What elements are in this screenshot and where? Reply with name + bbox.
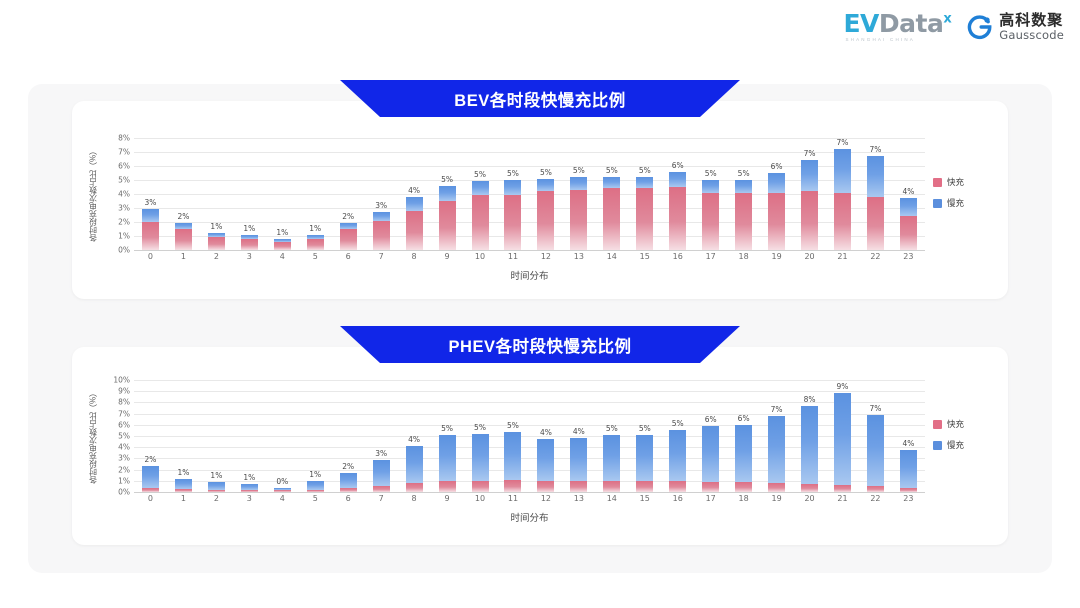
- chart-title-banner-bev: BEV各时段快慢充比例: [340, 80, 740, 117]
- bar-segment-slow: [504, 432, 521, 480]
- bar-column[interactable]: 1%: [233, 380, 266, 492]
- legend-label-fast: 快充: [947, 418, 964, 430]
- bar-data-label: 7%: [837, 138, 849, 147]
- bar-data-label: 4%: [408, 186, 420, 195]
- bar-segment-slow: [472, 181, 489, 195]
- bar-segment-slow: [768, 416, 785, 483]
- legend-swatch-fast-icon: [933, 420, 942, 429]
- bar-segment-slow: [208, 482, 225, 490]
- x-axis-tick: 13: [562, 494, 595, 503]
- stacked-bar[interactable]: 5%: [603, 435, 620, 492]
- bar-data-label: 5%: [672, 419, 684, 428]
- bar-column[interactable]: 5%: [661, 380, 694, 492]
- bar-segment-fast: [834, 193, 851, 250]
- bar-column[interactable]: 6%: [760, 138, 793, 250]
- bar-column[interactable]: 6%: [694, 380, 727, 492]
- gridline: [134, 492, 925, 493]
- stacked-bar[interactable]: 2%: [142, 466, 159, 492]
- stacked-bar[interactable]: 0%: [274, 488, 291, 492]
- bar-segment-fast: [537, 191, 554, 250]
- bar-segment-fast: [834, 485, 851, 492]
- x-axis-tick: 11: [496, 252, 529, 261]
- y-axis-tick: 6%: [118, 162, 130, 171]
- y-axis-tick: 2%: [118, 218, 130, 227]
- bar-column[interactable]: 2%: [134, 380, 167, 492]
- bar-segment-slow: [735, 180, 752, 193]
- bar-segment-slow: [834, 393, 851, 485]
- y-axis-tick: 9%: [118, 387, 130, 396]
- y-axis-tick: 0%: [118, 488, 130, 497]
- bar-column[interactable]: 5%: [595, 380, 628, 492]
- bar-segment-fast: [241, 239, 258, 250]
- bar-segment-slow: [900, 450, 917, 488]
- bar-data-label: 5%: [507, 421, 519, 430]
- logo-group: EVDatax SHANGHAI CHINA 高科数聚 Gausscode: [843, 11, 1064, 43]
- stacked-bar[interactable]: 3%: [142, 209, 159, 250]
- x-axis-tick: 5: [299, 494, 332, 503]
- legend-item-slow-phev[interactable]: 慢充: [933, 439, 993, 451]
- evdata-data-text: Data: [879, 9, 943, 38]
- bar-segment-slow: [636, 177, 653, 188]
- gausscode-cn-name: 高科数聚: [999, 13, 1064, 29]
- bar-segment-slow: [406, 446, 423, 483]
- bar-group-phev: 2%1%1%1%0%1%2%3%4%5%5%5%4%4%5%5%5%6%6%7%…: [134, 380, 925, 492]
- gausscode-en-name: Gausscode: [999, 29, 1064, 41]
- x-axis-tick: 12: [529, 252, 562, 261]
- stacked-bar[interactable]: 1%: [208, 482, 225, 492]
- bar-column[interactable]: 3%: [134, 138, 167, 250]
- bar-segment-fast: [636, 188, 653, 250]
- stacked-bar[interactable]: 5%: [472, 181, 489, 250]
- y-axis-label-phev: 各时段充电次数占比（%）: [86, 380, 100, 492]
- bar-column[interactable]: 5%: [464, 138, 497, 250]
- y-axis-tick: 8%: [118, 134, 130, 143]
- bar-column[interactable]: 1%: [233, 138, 266, 250]
- bar-segment-slow: [340, 473, 357, 488]
- x-axis-tick: 2: [200, 494, 233, 503]
- bar-data-label: 5%: [540, 168, 552, 177]
- bar-column[interactable]: 1%: [299, 138, 332, 250]
- stacked-bar[interactable]: 5%: [570, 177, 587, 250]
- x-axis-tick: 18: [727, 494, 760, 503]
- stacked-bar[interactable]: 3%: [373, 212, 390, 250]
- bar-segment-slow: [439, 435, 456, 481]
- bar-segment-slow: [142, 466, 159, 488]
- bar-segment-fast: [669, 481, 686, 492]
- stacked-bar[interactable]: 5%: [439, 186, 456, 250]
- bar-data-label: 4%: [902, 187, 914, 196]
- bar-segment-fast: [142, 488, 159, 492]
- y-axis-label-bev: 各时段充电次数占比（%）: [86, 138, 100, 250]
- evdata-subtitle: SHANGHAI CHINA: [845, 38, 915, 43]
- bar-segment-slow: [669, 172, 686, 187]
- bar-column[interactable]: 7%: [793, 138, 826, 250]
- stacked-bar[interactable]: 3%: [373, 460, 390, 492]
- bar-column[interactable]: 9%: [826, 380, 859, 492]
- y-axis-tick: 0%: [118, 246, 130, 255]
- bar-column[interactable]: 2%: [167, 138, 200, 250]
- bar-segment-slow: [702, 426, 719, 482]
- legend-bev: 快充 慢充: [933, 176, 993, 209]
- bar-column[interactable]: 5%: [628, 138, 661, 250]
- bar-column[interactable]: 4%: [398, 138, 431, 250]
- stacked-bar[interactable]: 5%: [669, 430, 686, 492]
- bar-column[interactable]: 7%: [760, 380, 793, 492]
- x-axis-tick: 8: [398, 494, 431, 503]
- x-axis-tick: 15: [628, 494, 661, 503]
- bar-segment-fast: [208, 237, 225, 250]
- x-axis-tick: 7: [365, 252, 398, 261]
- bar-segment-fast: [867, 197, 884, 250]
- bar-column[interactable]: 5%: [496, 380, 529, 492]
- bar-data-label: 5%: [441, 424, 453, 433]
- bar-segment-slow: [175, 479, 192, 490]
- x-axis-tick: 22: [859, 252, 892, 261]
- x-axis-ticks-phev: 01234567891011121314151617181920212223: [134, 494, 925, 503]
- bar-segment-fast: [570, 481, 587, 492]
- stacked-bar[interactable]: 5%: [504, 432, 521, 492]
- bar-segment-fast: [439, 201, 456, 250]
- bar-segment-slow: [900, 198, 917, 216]
- stacked-bar[interactable]: 5%: [702, 180, 719, 250]
- x-axis-tick: 22: [859, 494, 892, 503]
- evdata-ev-text: EV: [843, 9, 878, 38]
- bar-segment-fast: [274, 490, 291, 492]
- x-axis-tick: 1: [167, 252, 200, 261]
- x-axis-tick: 0: [134, 494, 167, 503]
- bar-column[interactable]: 5%: [529, 138, 562, 250]
- bar-segment-fast: [570, 190, 587, 250]
- bar-data-label: 3%: [145, 198, 157, 207]
- y-axis-tick: 4%: [118, 190, 130, 199]
- bar-segment-fast: [340, 488, 357, 492]
- bar-data-label: 1%: [276, 228, 288, 237]
- bar-segment-slow: [867, 415, 884, 487]
- bar-segment-slow: [801, 160, 818, 191]
- page-header: EVDatax SHANGHAI CHINA 高科数聚 Gausscode: [0, 0, 1080, 58]
- bar-column[interactable]: 5%: [562, 138, 595, 250]
- stacked-bar[interactable]: 1%: [307, 235, 324, 250]
- chart-bev: 各时段充电次数占比（%） 0%1%2%3%4%5%6%7%8% 3%2%1%1%…: [88, 138, 993, 293]
- legend-item-slow-bev[interactable]: 慢充: [933, 197, 993, 209]
- stacked-bar[interactable]: 7%: [867, 156, 884, 250]
- stacked-bar[interactable]: 1%: [208, 233, 225, 250]
- stacked-bar[interactable]: 2%: [340, 473, 357, 492]
- bar-column[interactable]: 5%: [464, 380, 497, 492]
- bar-segment-slow: [537, 179, 554, 192]
- bar-column[interactable]: 2%: [332, 380, 365, 492]
- x-axis-tick: 8: [398, 252, 431, 261]
- x-axis-label-phev: 时间分布: [134, 510, 925, 524]
- bar-data-label: 5%: [474, 423, 486, 432]
- bar-data-label: 0%: [276, 477, 288, 486]
- bar-data-label: 3%: [375, 449, 387, 458]
- x-axis-tick: 2: [200, 252, 233, 261]
- bar-column[interactable]: 1%: [266, 138, 299, 250]
- legend-item-fast-phev[interactable]: 快充: [933, 418, 993, 430]
- bar-data-label: 7%: [771, 405, 783, 414]
- y-axis-tick: 5%: [118, 176, 130, 185]
- bar-group-bev: 3%2%1%1%1%1%2%3%4%5%5%5%5%5%5%5%6%5%5%6%…: [134, 138, 925, 250]
- x-axis-tick: 7: [365, 494, 398, 503]
- evdata-superscript-icon: x: [943, 12, 951, 27]
- gridline: [134, 250, 925, 251]
- bar-data-label: 2%: [145, 455, 157, 464]
- bar-column[interactable]: 8%: [793, 380, 826, 492]
- legend-swatch-fast-icon: [933, 178, 942, 187]
- stacked-bar[interactable]: 1%: [241, 235, 258, 250]
- bar-segment-slow: [472, 434, 489, 481]
- bar-segment-slow: [142, 209, 159, 222]
- gausscode-text: 高科数聚 Gausscode: [999, 13, 1064, 41]
- bar-segment-fast: [241, 490, 258, 492]
- bar-segment-slow: [834, 149, 851, 192]
- bar-data-label: 2%: [177, 212, 189, 221]
- bar-data-label: 3%: [375, 201, 387, 210]
- stacked-bar[interactable]: 5%: [603, 177, 620, 250]
- bar-data-label: 2%: [342, 462, 354, 471]
- bar-segment-slow: [537, 439, 554, 480]
- stacked-bar[interactable]: 7%: [801, 160, 818, 250]
- gausscode-logo: 高科数聚 Gausscode: [967, 13, 1064, 41]
- bar-segment-fast: [504, 195, 521, 250]
- x-axis-tick: 14: [595, 494, 628, 503]
- bar-column[interactable]: 7%: [859, 380, 892, 492]
- stacked-bar[interactable]: 2%: [175, 223, 192, 250]
- bar-column[interactable]: 6%: [727, 380, 760, 492]
- x-axis-tick: 23: [892, 494, 925, 503]
- y-axis-tick: 1%: [118, 476, 130, 485]
- bar-data-label: 1%: [243, 473, 255, 482]
- stacked-bar[interactable]: 1%: [307, 481, 324, 492]
- stacked-bar[interactable]: 7%: [768, 416, 785, 492]
- stacked-bar[interactable]: 6%: [735, 425, 752, 492]
- stacked-bar[interactable]: 7%: [834, 149, 851, 250]
- bar-data-label: 1%: [210, 222, 222, 231]
- stacked-bar[interactable]: 5%: [537, 179, 554, 250]
- x-axis-tick: 11: [496, 494, 529, 503]
- bar-column[interactable]: 5%: [694, 138, 727, 250]
- bar-column[interactable]: 1%: [200, 138, 233, 250]
- stacked-bar[interactable]: 4%: [406, 446, 423, 492]
- bar-data-label: 6%: [771, 162, 783, 171]
- stacked-bar[interactable]: 4%: [537, 439, 554, 492]
- bar-segment-slow: [406, 197, 423, 211]
- bar-column[interactable]: 1%: [200, 380, 233, 492]
- bar-column[interactable]: 5%: [496, 138, 529, 250]
- x-axis-tick: 9: [431, 494, 464, 503]
- bar-data-label: 4%: [573, 427, 585, 436]
- stacked-bar[interactable]: 1%: [175, 479, 192, 492]
- bar-segment-slow: [439, 186, 456, 201]
- bar-segment-slow: [636, 435, 653, 481]
- bar-column[interactable]: 6%: [661, 138, 694, 250]
- stacked-bar[interactable]: 7%: [867, 415, 884, 492]
- legend-item-fast-bev[interactable]: 快充: [933, 176, 993, 188]
- stacked-bar[interactable]: 5%: [504, 180, 521, 250]
- x-axis-tick: 20: [793, 494, 826, 503]
- bar-segment-slow: [570, 177, 587, 190]
- bar-data-label: 5%: [441, 175, 453, 184]
- bar-data-label: 7%: [869, 404, 881, 413]
- stacked-bar[interactable]: 2%: [340, 223, 357, 250]
- stacked-bar[interactable]: 5%: [636, 177, 653, 250]
- bar-column[interactable]: 4%: [892, 138, 925, 250]
- x-axis-tick: 16: [661, 252, 694, 261]
- bar-segment-fast: [142, 222, 159, 250]
- x-axis-label-bev: 时间分布: [134, 268, 925, 282]
- bar-segment-fast: [735, 482, 752, 492]
- bar-column[interactable]: 7%: [826, 138, 859, 250]
- x-axis-tick: 6: [332, 252, 365, 261]
- bar-segment-slow: [801, 406, 818, 484]
- bar-data-label: 6%: [672, 161, 684, 170]
- bar-data-label: 5%: [639, 424, 651, 433]
- x-axis-tick: 19: [760, 252, 793, 261]
- bar-column[interactable]: 5%: [431, 138, 464, 250]
- bar-column[interactable]: 5%: [727, 138, 760, 250]
- x-axis-tick: 0: [134, 252, 167, 261]
- bar-column[interactable]: 0%: [266, 380, 299, 492]
- x-axis-ticks-bev: 01234567891011121314151617181920212223: [134, 252, 925, 261]
- bar-data-label: 1%: [309, 224, 321, 233]
- x-axis-tick: 21: [826, 494, 859, 503]
- bar-segment-fast: [307, 490, 324, 492]
- bar-column[interactable]: 7%: [859, 138, 892, 250]
- bar-segment-fast: [867, 486, 884, 492]
- evdata-logo: EVDatax SHANGHAI CHINA: [843, 11, 951, 43]
- bar-data-label: 5%: [573, 166, 585, 175]
- x-axis-tick: 13: [562, 252, 595, 261]
- x-axis-tick: 17: [694, 494, 727, 503]
- stacked-bar[interactable]: 1%: [274, 239, 291, 250]
- bar-segment-slow: [603, 177, 620, 188]
- bar-column[interactable]: 3%: [365, 138, 398, 250]
- bar-segment-fast: [702, 482, 719, 492]
- stacked-bar[interactable]: 8%: [801, 406, 818, 492]
- stacked-bar[interactable]: 4%: [900, 450, 917, 492]
- stacked-bar[interactable]: 6%: [768, 173, 785, 250]
- bar-segment-slow: [702, 180, 719, 193]
- bar-segment-fast: [373, 486, 390, 492]
- x-axis-tick: 4: [266, 494, 299, 503]
- x-axis-tick: 17: [694, 252, 727, 261]
- x-axis-tick: 5: [299, 252, 332, 261]
- stacked-bar[interactable]: 4%: [900, 198, 917, 250]
- bar-data-label: 4%: [540, 428, 552, 437]
- bar-segment-fast: [307, 239, 324, 250]
- bar-segment-fast: [175, 229, 192, 250]
- legend-label-fast: 快充: [947, 176, 964, 188]
- stacked-bar[interactable]: 4%: [570, 438, 587, 492]
- bar-data-label: 7%: [869, 145, 881, 154]
- chart-title-banner-phev: PHEV各时段快慢充比例: [340, 326, 740, 363]
- bar-column[interactable]: 1%: [167, 380, 200, 492]
- x-axis-tick: 18: [727, 252, 760, 261]
- x-axis-tick: 9: [431, 252, 464, 261]
- x-axis-tick: 10: [464, 494, 497, 503]
- bar-segment-slow: [504, 180, 521, 195]
- legend-label-slow: 慢充: [947, 197, 964, 209]
- bar-segment-fast: [801, 484, 818, 492]
- bar-data-label: 9%: [837, 382, 849, 391]
- x-axis-tick: 15: [628, 252, 661, 261]
- bar-column[interactable]: 2%: [332, 138, 365, 250]
- bar-segment-fast: [472, 481, 489, 492]
- bar-segment-fast: [274, 242, 291, 250]
- legend-label-slow: 慢充: [947, 439, 964, 451]
- y-axis-tick: 6%: [118, 420, 130, 429]
- bar-segment-fast: [768, 483, 785, 492]
- bar-segment-fast: [636, 481, 653, 492]
- stacked-bar[interactable]: 6%: [702, 426, 719, 492]
- bar-segment-fast: [340, 229, 357, 250]
- gausscode-mark-icon: [967, 14, 993, 40]
- bar-column[interactable]: 5%: [628, 380, 661, 492]
- bar-segment-fast: [373, 221, 390, 250]
- bar-data-label: 5%: [474, 170, 486, 179]
- y-axis-tick: 7%: [118, 409, 130, 418]
- stacked-bar[interactable]: 5%: [472, 434, 489, 492]
- x-axis-tick: 20: [793, 252, 826, 261]
- stacked-bar[interactable]: 5%: [439, 435, 456, 492]
- stacked-bar[interactable]: 9%: [834, 393, 851, 492]
- bar-column[interactable]: 3%: [365, 380, 398, 492]
- bar-column[interactable]: 4%: [529, 380, 562, 492]
- stacked-bar[interactable]: 4%: [406, 197, 423, 250]
- stacked-bar[interactable]: 5%: [735, 180, 752, 250]
- bar-data-label: 5%: [606, 424, 618, 433]
- bar-segment-fast: [208, 490, 225, 492]
- stacked-bar[interactable]: 6%: [669, 172, 686, 250]
- x-axis-tick: 4: [266, 252, 299, 261]
- bar-segment-fast: [669, 187, 686, 250]
- bar-segment-slow: [373, 460, 390, 487]
- evdata-wordmark: EVDatax: [843, 11, 951, 36]
- bar-column[interactable]: 4%: [398, 380, 431, 492]
- bar-segment-slow: [768, 173, 785, 193]
- x-axis-tick: 16: [661, 494, 694, 503]
- bar-segment-fast: [472, 195, 489, 250]
- bar-column[interactable]: 4%: [562, 380, 595, 492]
- bar-data-label: 6%: [738, 414, 750, 423]
- y-axis-tick: 4%: [118, 443, 130, 452]
- bar-column[interactable]: 4%: [892, 380, 925, 492]
- bar-column[interactable]: 5%: [431, 380, 464, 492]
- bar-segment-slow: [307, 481, 324, 489]
- bar-segment-slow: [867, 156, 884, 197]
- bar-segment-fast: [735, 193, 752, 250]
- bar-segment-fast: [801, 191, 818, 250]
- bar-data-label: 1%: [309, 470, 321, 479]
- bar-column[interactable]: 5%: [595, 138, 628, 250]
- bar-segment-slow: [373, 212, 390, 220]
- y-axis-tick: 7%: [118, 148, 130, 157]
- bar-data-label: 5%: [705, 169, 717, 178]
- bar-column[interactable]: 1%: [299, 380, 332, 492]
- x-axis-tick: 1: [167, 494, 200, 503]
- bar-data-label: 5%: [738, 169, 750, 178]
- stacked-bar[interactable]: 5%: [636, 435, 653, 492]
- x-axis-tick: 23: [892, 252, 925, 261]
- bar-data-label: 1%: [243, 224, 255, 233]
- plot-area-bev: 0%1%2%3%4%5%6%7%8% 3%2%1%1%1%1%2%3%4%5%5…: [134, 138, 925, 250]
- plot-area-phev: 0%1%2%3%4%5%6%7%8%9%10% 2%1%1%1%0%1%2%3%…: [134, 380, 925, 492]
- stacked-bar[interactable]: 1%: [241, 484, 258, 492]
- x-axis-tick: 14: [595, 252, 628, 261]
- y-axis-tick: 5%: [118, 432, 130, 441]
- bar-segment-fast: [900, 216, 917, 250]
